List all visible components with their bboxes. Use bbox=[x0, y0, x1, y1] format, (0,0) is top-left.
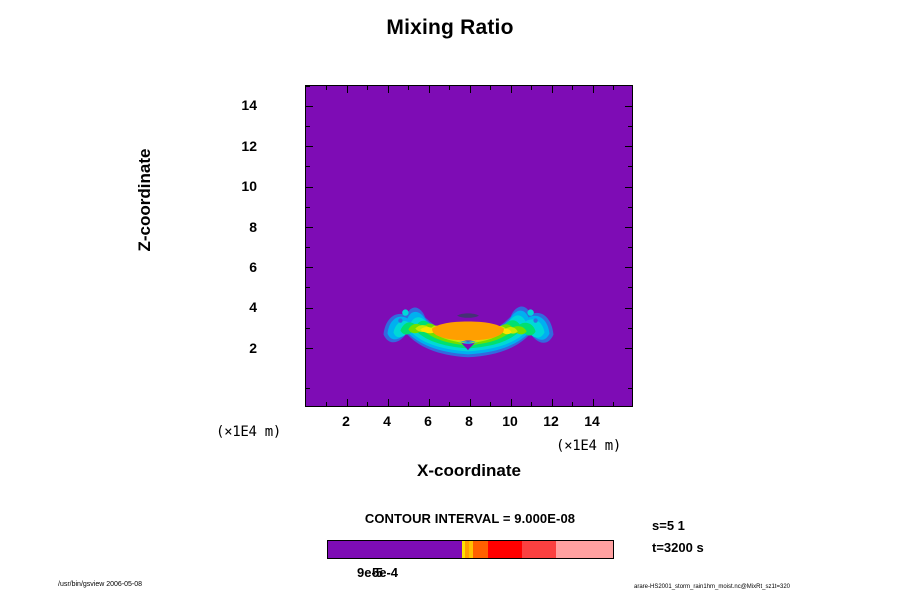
y-tick-label-6: 6 bbox=[217, 260, 257, 274]
y-tick-15 bbox=[306, 86, 310, 87]
x-tick-5 bbox=[408, 402, 409, 406]
x-tick-4 bbox=[388, 399, 389, 406]
y-tick-1 bbox=[306, 388, 310, 389]
footer-left-text: /usr/bin/gsview 2006-05-08 bbox=[58, 581, 142, 588]
x-tick-2 bbox=[347, 399, 348, 406]
y-tick-label-14: 14 bbox=[217, 98, 257, 112]
y-tick-8 bbox=[306, 227, 313, 228]
x-axis-title: X-coordinate bbox=[305, 461, 633, 481]
y-tick-right-8 bbox=[625, 227, 632, 228]
contour-field bbox=[306, 86, 632, 406]
colorbar-segment-7 bbox=[556, 541, 612, 558]
y-tick-6 bbox=[306, 267, 313, 268]
x-tick-top-10 bbox=[511, 86, 512, 93]
y-tick-right-5 bbox=[628, 287, 632, 288]
x-tick-label-12: 12 bbox=[531, 414, 571, 428]
page-title: Mixing Ratio bbox=[0, 16, 900, 40]
y-tick-label-2: 2 bbox=[217, 341, 257, 355]
y-tick-right-14 bbox=[625, 106, 632, 107]
y-tick-label-12: 12 bbox=[217, 139, 257, 153]
y-tick-right-4 bbox=[625, 308, 632, 309]
y-tick-14 bbox=[306, 106, 313, 107]
colorbar-segment-0 bbox=[328, 541, 462, 558]
y-tick-11 bbox=[306, 166, 310, 167]
y-tick-3 bbox=[306, 328, 310, 329]
x-tick-9 bbox=[490, 402, 491, 406]
y-tick-label-8: 8 bbox=[217, 220, 257, 234]
y-tick-12 bbox=[306, 146, 313, 147]
x-tick-15 bbox=[613, 402, 614, 406]
x-tick-13 bbox=[572, 402, 573, 406]
x-tick-label-4: 4 bbox=[367, 414, 407, 428]
y-tick-2 bbox=[306, 348, 313, 349]
x-tick-label-10: 10 bbox=[490, 414, 530, 428]
x-tick-7 bbox=[449, 402, 450, 406]
x-tick-top-4 bbox=[388, 86, 389, 93]
x-tick-top-14 bbox=[593, 86, 594, 93]
x-tick-top-15 bbox=[613, 86, 614, 90]
x-axis-unit: (×1E4 m) bbox=[556, 438, 621, 454]
y-tick-10 bbox=[306, 187, 313, 188]
y-tick-label-4: 4 bbox=[217, 300, 257, 314]
x-tick-top-12 bbox=[552, 86, 553, 93]
x-tick-top-5 bbox=[408, 86, 409, 90]
y-tick-right-7 bbox=[628, 247, 632, 248]
time-annotation: t=3200 s bbox=[652, 540, 704, 555]
y-tick-right-13 bbox=[628, 126, 632, 127]
y-tick-13 bbox=[306, 126, 310, 127]
colorbar-segment-6 bbox=[522, 541, 556, 558]
x-tick-top-7 bbox=[449, 86, 450, 90]
y-axis-unit: (×1E4 m) bbox=[216, 424, 281, 440]
x-tick-top-11 bbox=[531, 86, 532, 90]
colorbar-segment-5 bbox=[488, 541, 522, 558]
y-tick-right-2 bbox=[625, 348, 632, 349]
x-tick-14 bbox=[593, 399, 594, 406]
contour-interval-caption: CONTOUR INTERVAL = 9.000E-08 bbox=[275, 511, 665, 526]
x-tick-top-3 bbox=[367, 86, 368, 90]
footer-right-text: arare-HS2001_storm_rain1hm_moist.nc@MixR… bbox=[634, 584, 790, 590]
y-tick-right-1 bbox=[628, 388, 632, 389]
y-tick-right-12 bbox=[625, 146, 632, 147]
x-tick-label-14: 14 bbox=[572, 414, 612, 428]
x-tick-top-13 bbox=[572, 86, 573, 90]
x-tick-11 bbox=[531, 402, 532, 406]
x-tick-label-2: 2 bbox=[326, 414, 366, 428]
x-tick-label-6: 6 bbox=[408, 414, 448, 428]
x-tick-12 bbox=[552, 399, 553, 406]
x-tick-top-9 bbox=[490, 86, 491, 90]
y-tick-right-10 bbox=[625, 187, 632, 188]
y-axis-title: Z-coordinate bbox=[135, 50, 155, 350]
x-tick-10 bbox=[511, 399, 512, 406]
contour-plot-area[interactable] bbox=[305, 85, 633, 407]
y-tick-label-10: 10 bbox=[217, 179, 257, 193]
colorbar-tick-label-1: 5e-4 bbox=[372, 565, 398, 580]
x-tick-8 bbox=[470, 399, 471, 406]
x-tick-3 bbox=[367, 402, 368, 406]
y-tick-right-9 bbox=[628, 207, 632, 208]
x-tick-top-1 bbox=[326, 86, 327, 90]
slice-annotation: s=5 1 bbox=[652, 518, 685, 533]
y-tick-right-6 bbox=[625, 267, 632, 268]
x-tick-1 bbox=[326, 402, 327, 406]
y-tick-4 bbox=[306, 308, 313, 309]
x-tick-label-8: 8 bbox=[449, 414, 489, 428]
y-tick-9 bbox=[306, 207, 310, 208]
x-tick-top-2 bbox=[347, 86, 348, 93]
x-tick-6 bbox=[429, 399, 430, 406]
colorbar[interactable] bbox=[327, 540, 614, 559]
y-tick-5 bbox=[306, 287, 310, 288]
x-tick-top-8 bbox=[470, 86, 471, 93]
colorbar-segment-4 bbox=[473, 541, 488, 558]
x-tick-top-6 bbox=[429, 86, 430, 93]
y-tick-right-11 bbox=[628, 166, 632, 167]
y-tick-7 bbox=[306, 247, 310, 248]
y-tick-right-3 bbox=[628, 328, 632, 329]
